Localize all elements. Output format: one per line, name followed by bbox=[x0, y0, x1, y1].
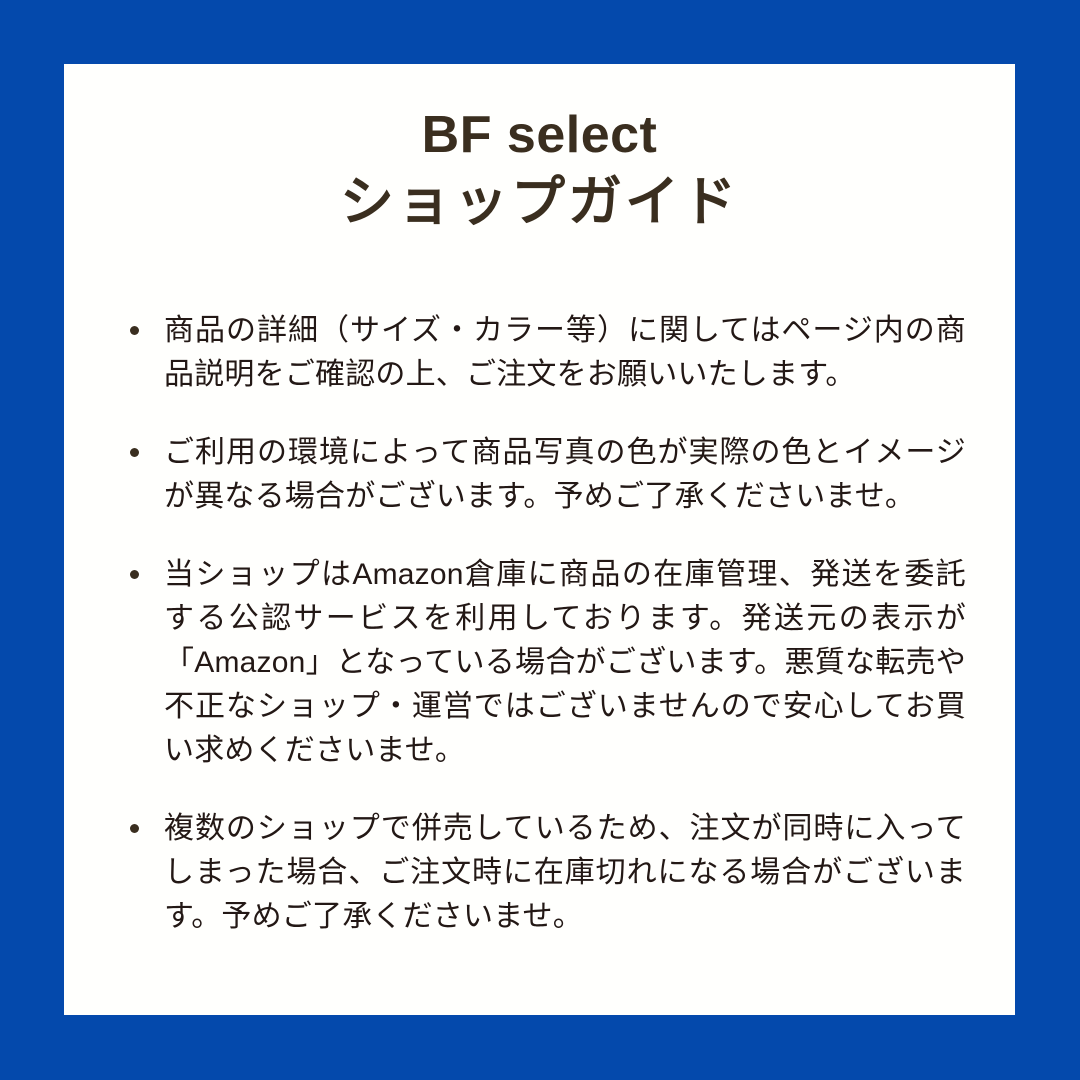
bullet-dot-icon bbox=[130, 326, 139, 335]
shop-guide-banner: BF select ショップガイド 商品の詳細（サイズ・カラー等）に関してはペー… bbox=[0, 0, 1080, 1080]
bullet-dot-icon bbox=[130, 570, 139, 579]
notice-list: 商品の詳細（サイズ・カラー等）に関してはページ内の商品説明をご確認の上、ご注文を… bbox=[126, 309, 966, 939]
content-panel: BF select ショップガイド 商品の詳細（サイズ・カラー等）に関してはペー… bbox=[64, 64, 1015, 1015]
page-title: BF select ショップガイド bbox=[64, 104, 1015, 238]
notice-text: 複数のショップで併売しているため、注文が同時に入ってしまった場合、ご注文時に在庫… bbox=[164, 807, 966, 939]
notice-text: ご利用の環境によって商品写真の色が実際の色とイメージが異なる場合がございます。予… bbox=[164, 431, 966, 519]
bullet-dot-icon bbox=[130, 824, 139, 833]
guide-subtitle: ショップガイド bbox=[64, 166, 1015, 238]
list-item: 複数のショップで併売しているため、注文が同時に入ってしまった場合、ご注文時に在庫… bbox=[126, 807, 966, 939]
notice-text: 当ショップはAmazon倉庫に商品の在庫管理、発送を委託する公認サービスを利用し… bbox=[164, 553, 966, 773]
notice-text: 商品の詳細（サイズ・カラー等）に関してはページ内の商品説明をご確認の上、ご注文を… bbox=[164, 309, 966, 397]
list-item: 商品の詳細（サイズ・カラー等）に関してはページ内の商品説明をご確認の上、ご注文を… bbox=[126, 309, 966, 397]
bullet-dot-icon bbox=[130, 448, 139, 457]
list-item: 当ショップはAmazon倉庫に商品の在庫管理、発送を委託する公認サービスを利用し… bbox=[126, 553, 966, 773]
list-item: ご利用の環境によって商品写真の色が実際の色とイメージが異なる場合がございます。予… bbox=[126, 431, 966, 519]
brand-title: BF select bbox=[64, 104, 1015, 166]
